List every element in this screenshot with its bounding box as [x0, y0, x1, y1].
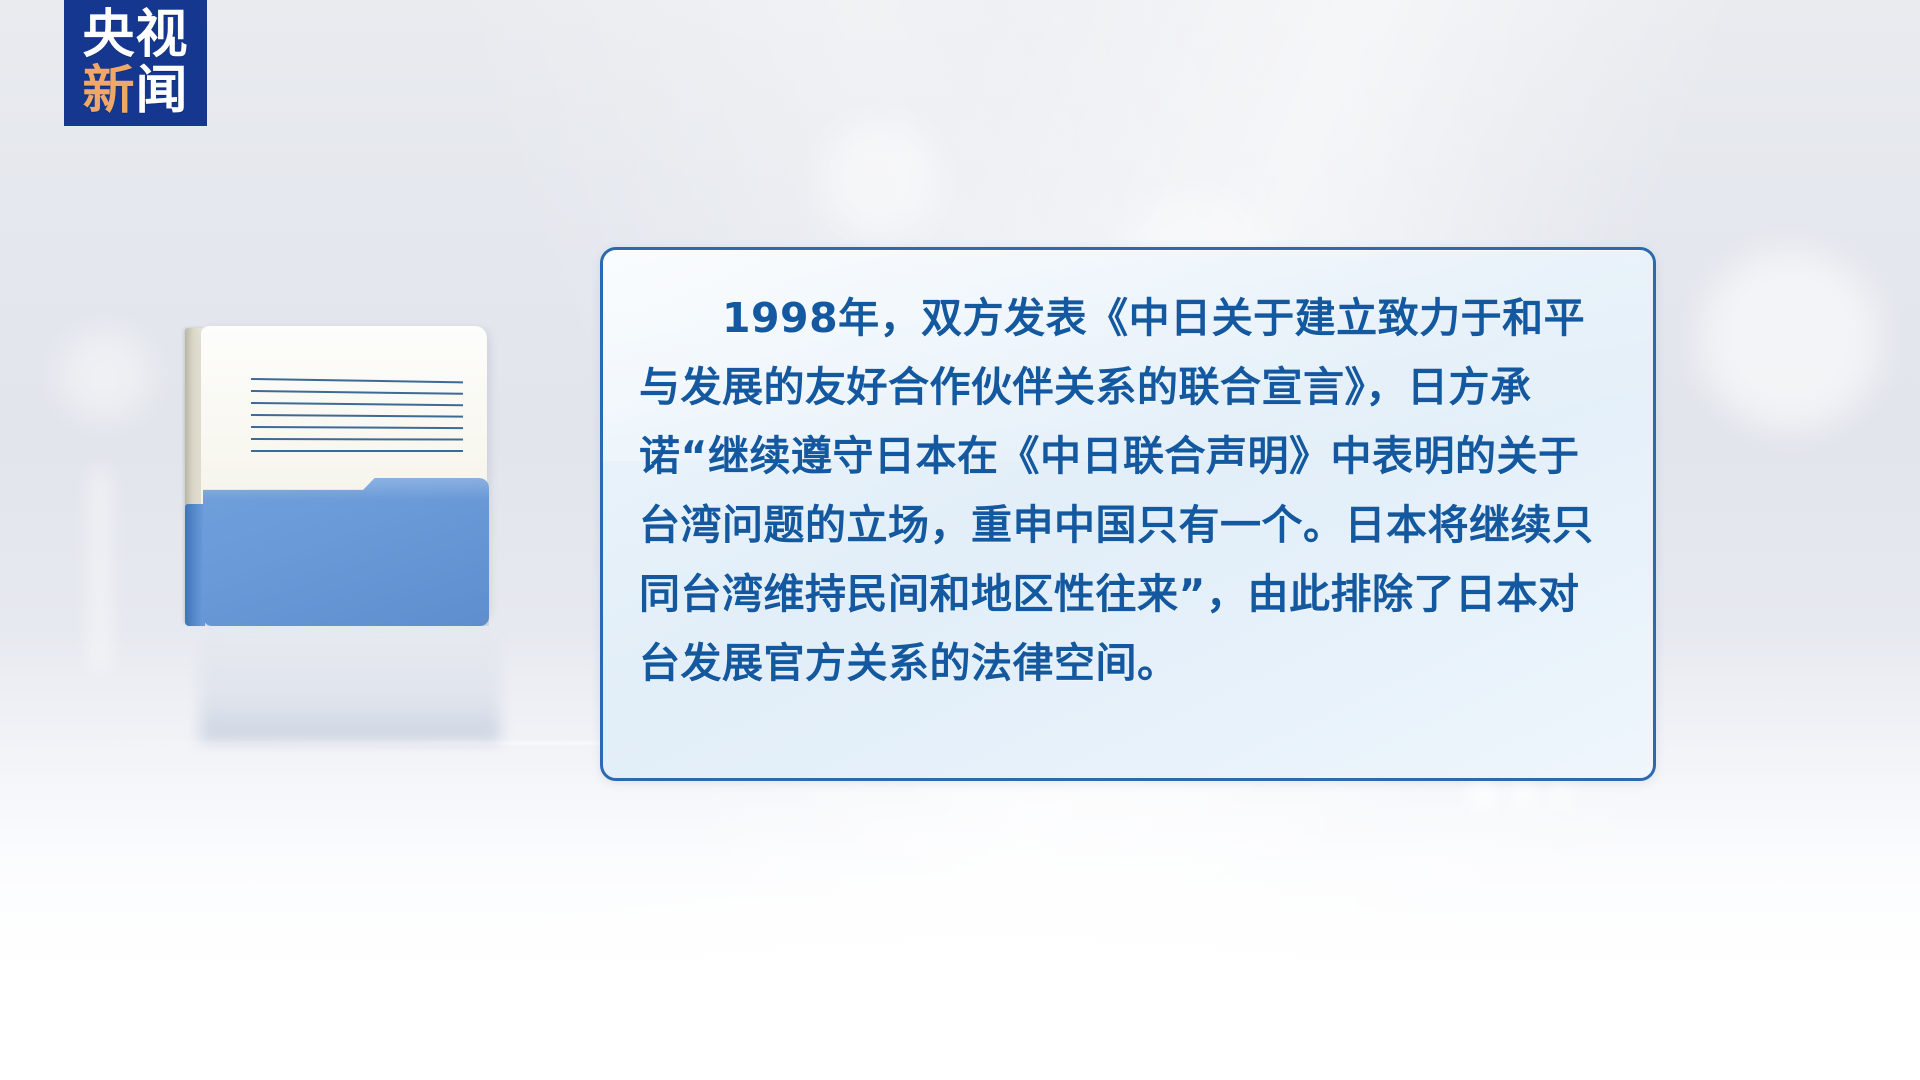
bokeh-highlight-4 [60, 330, 150, 420]
rule-line [251, 438, 463, 441]
light-column-4 [92, 470, 108, 670]
logo-text-yangshi: 央视 [82, 7, 188, 63]
logo-line-top: 央视 [82, 7, 188, 63]
rule-line [251, 450, 463, 452]
paper-rule-lines [251, 378, 463, 460]
logo-text-wen: 闻 [136, 63, 189, 119]
folder-reflection [200, 632, 500, 742]
statement-panel: 1998年，双方发表《中日关于建立致力于和平与发展的友好合作伙伴关系的联合宣言》… [600, 247, 1656, 781]
bokeh-highlight-3 [1700, 250, 1880, 430]
rule-line [251, 402, 463, 406]
rule-line [251, 426, 463, 429]
news-graphic-stage: 央视 新 闻 1998年，双方发表《中日关于建立致力于和平与发展的友好合作伙伴关… [0, 0, 1920, 1080]
rule-line [251, 390, 463, 395]
rule-line [251, 378, 463, 383]
bokeh-highlight-1 [820, 120, 940, 240]
rule-line [251, 414, 463, 418]
logo-line-bottom: 新 闻 [82, 63, 188, 119]
cctv-news-logo: 央视 新 闻 [64, 0, 207, 126]
logo-text-xin: 新 [82, 63, 135, 119]
folder-spine-blue [185, 504, 205, 626]
document-folder-icon [185, 318, 497, 632]
folder-front-flap [203, 478, 489, 626]
statement-text: 1998年，双方发表《中日关于建立致力于和平与发展的友好合作伙伴关系的联合宣言》… [639, 284, 1617, 698]
statement-panel-body: 1998年，双方发表《中日关于建立致力于和平与发展的友好合作伙伴关系的联合宣言》… [603, 250, 1653, 724]
